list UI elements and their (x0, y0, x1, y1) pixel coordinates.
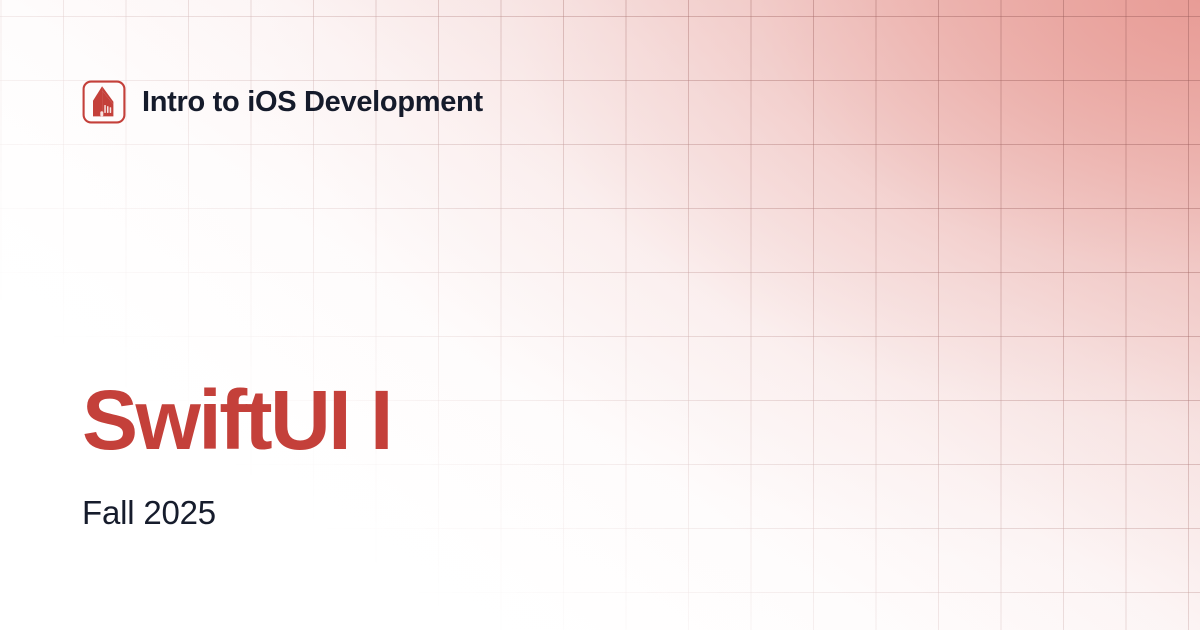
title-slide: Intro to iOS Development SwiftUI I Fall … (0, 0, 1200, 630)
slide-content: Intro to iOS Development SwiftUI I Fall … (0, 0, 1200, 630)
slide-title: SwiftUI I (82, 378, 391, 462)
chapel-logo-icon (82, 80, 126, 124)
course-title: Intro to iOS Development (142, 88, 483, 117)
title-block: SwiftUI I Fall 2025 (82, 378, 391, 529)
slide-subtitle: Fall 2025 (82, 462, 391, 529)
brand-lockup: Intro to iOS Development (82, 80, 483, 124)
